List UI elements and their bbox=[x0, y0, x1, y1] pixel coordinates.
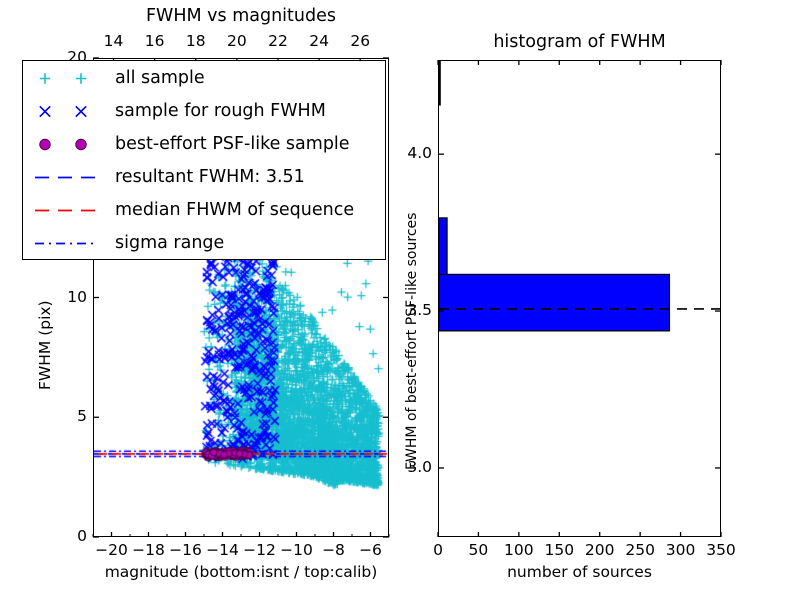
legend-marker-dashed bbox=[23, 194, 115, 227]
histogram-svg bbox=[439, 61, 721, 537]
histogram-bar bbox=[439, 61, 440, 105]
tick-label-top: 22 bbox=[267, 32, 289, 50]
legend-item[interactable]: resultant FWHM: 3.51 bbox=[23, 161, 385, 194]
tick-label-top: 26 bbox=[349, 32, 371, 50]
legend-marker-dashed bbox=[23, 161, 115, 194]
tick-label-top: 16 bbox=[144, 32, 166, 50]
legend-label: all sample bbox=[115, 70, 205, 88]
tick-label-right-x: 300 bbox=[664, 541, 698, 559]
legend: all samplesample for rough FWHMbest-effo… bbox=[22, 60, 386, 260]
left-xlabel: magnitude (bottom:isnt / top:calib) bbox=[93, 563, 389, 581]
tick-label-right-y: 4.0 bbox=[394, 144, 432, 162]
tick-label-top: 24 bbox=[308, 32, 330, 50]
legend-item[interactable]: all sample bbox=[23, 62, 385, 95]
tick-label-right-x: 200 bbox=[583, 541, 617, 559]
legend-label: best-effort PSF-like sample bbox=[115, 136, 350, 154]
legend-label: resultant FWHM: 3.51 bbox=[115, 169, 305, 187]
legend-item[interactable]: sample for rough FWHM bbox=[23, 95, 385, 128]
histogram-plot-area[interactable] bbox=[438, 60, 721, 537]
tick-label-right-x: 50 bbox=[461, 541, 495, 559]
tick-label-bottom: −6 bbox=[354, 541, 388, 559]
tick-label-left-y: 10 bbox=[51, 288, 87, 306]
tick-label-bottom: −14 bbox=[206, 541, 240, 559]
legend-label: sigma range bbox=[115, 235, 224, 253]
legend-item[interactable]: best-effort PSF-like sample bbox=[23, 128, 385, 161]
tick-label-right-x: 150 bbox=[542, 541, 576, 559]
legend-marker-dashdot bbox=[23, 227, 115, 260]
right-panel-title: histogram of FWHM bbox=[438, 32, 721, 52]
figure-canvas: FWHM vs magnitudes 14161820222426 −20−18… bbox=[0, 0, 800, 600]
legend-label: sample for rough FWHM bbox=[115, 103, 326, 121]
tick-label-bottom: −8 bbox=[317, 541, 351, 559]
tick-label-right-x: 100 bbox=[502, 541, 536, 559]
legend-marker-cross bbox=[23, 95, 115, 128]
tick-label-right-x: 0 bbox=[421, 541, 455, 559]
tick-label-bottom: −18 bbox=[132, 541, 166, 559]
tick-label-top: 14 bbox=[103, 32, 125, 50]
legend-label: median FHWM of sequence bbox=[115, 202, 354, 220]
histogram-bar bbox=[439, 218, 447, 274]
legend-item[interactable]: sigma range bbox=[23, 227, 385, 260]
right-ylabel: FWHM of best-effort PSF-like sources bbox=[404, 213, 420, 470]
left-panel-title: FWHM vs magnitudes bbox=[93, 6, 389, 26]
tick-label-right-x: 250 bbox=[623, 541, 657, 559]
tick-label-top: 20 bbox=[226, 32, 248, 50]
histogram-bar bbox=[439, 274, 669, 330]
tick-label-right-x: 350 bbox=[704, 541, 738, 559]
legend-item[interactable]: median FHWM of sequence bbox=[23, 194, 385, 227]
right-xlabel: number of sources bbox=[438, 563, 721, 581]
tick-label-bottom: −12 bbox=[243, 541, 277, 559]
tick-label-bottom: −10 bbox=[280, 541, 314, 559]
tick-label-bottom: −16 bbox=[169, 541, 203, 559]
tick-label-top: 18 bbox=[185, 32, 207, 50]
tick-label-bottom: −20 bbox=[95, 541, 129, 559]
legend-marker-plus bbox=[23, 62, 115, 95]
legend-marker-circle bbox=[23, 128, 115, 161]
left-ylabel: FWHM (pix) bbox=[36, 300, 54, 390]
tick-label-left-y: 5 bbox=[51, 407, 87, 425]
tick-label-left-y: 0 bbox=[51, 527, 87, 545]
